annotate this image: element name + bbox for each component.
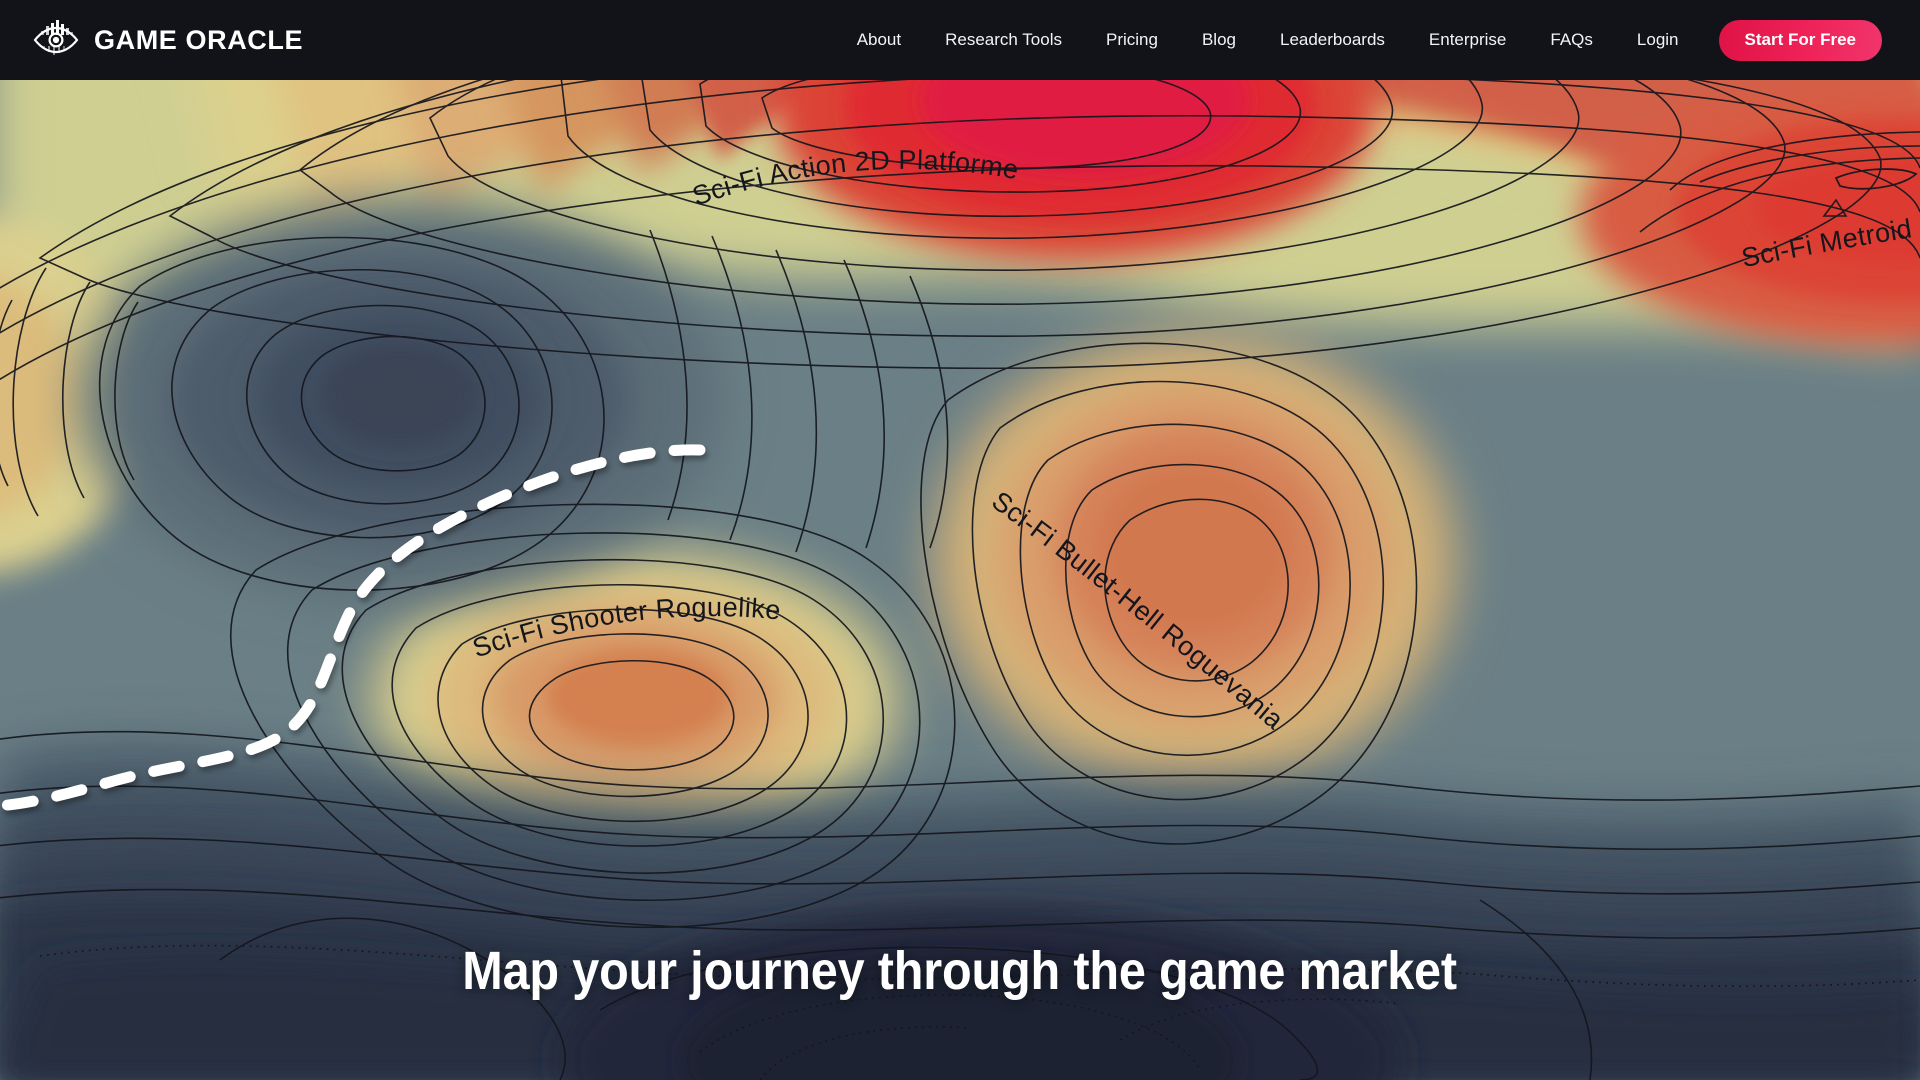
nav-item-pricing[interactable]: Pricing — [1084, 0, 1180, 80]
contour-map: Sci-Fi Action 2D Platformers Sci-Fi Metr… — [0, 0, 1920, 1080]
nav-item-login[interactable]: Login — [1615, 0, 1701, 80]
nav-item-about[interactable]: About — [835, 0, 923, 80]
nav-item-leaderboards[interactable]: Leaderboards — [1258, 0, 1407, 80]
site-header: GAME ORACLE About Research Tools Pricing… — [0, 0, 1920, 80]
brand-logo[interactable]: GAME ORACLE — [32, 17, 303, 63]
nav-item-enterprise[interactable]: Enterprise — [1407, 0, 1528, 80]
eye-icon — [32, 17, 80, 63]
nav-item-faqs[interactable]: FAQs — [1528, 0, 1615, 80]
brand-name: GAME ORACLE — [94, 25, 303, 56]
main-nav: About Research Tools Pricing Blog Leader… — [835, 0, 1882, 80]
start-for-free-button[interactable]: Start For Free — [1719, 20, 1882, 61]
contour-bands: Sci-Fi Action 2D Platformers Sci-Fi Metr… — [0, 0, 1920, 1080]
nav-item-research-tools[interactable]: Research Tools — [923, 0, 1084, 80]
nav-item-blog[interactable]: Blog — [1180, 0, 1258, 80]
